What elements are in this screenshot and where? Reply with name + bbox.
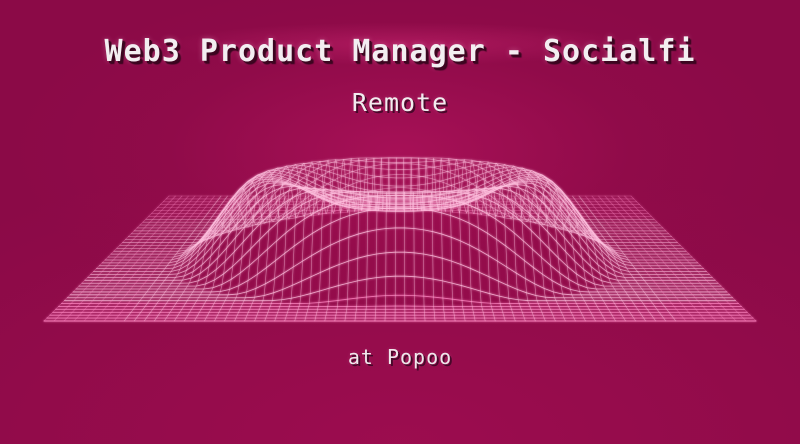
company-name: at Popoo [348,345,452,369]
footer-block: at Popoo [0,345,800,369]
page-title: Web3 Product Manager - Socialfi [105,34,696,69]
title-block: Web3 Product Manager - Socialfi [0,14,800,89]
location-subtitle: Remote [352,88,448,117]
subtitle-block: Remote [0,88,800,117]
job-posting-card: Web3 Product Manager - Socialfi Remote a… [0,0,800,444]
